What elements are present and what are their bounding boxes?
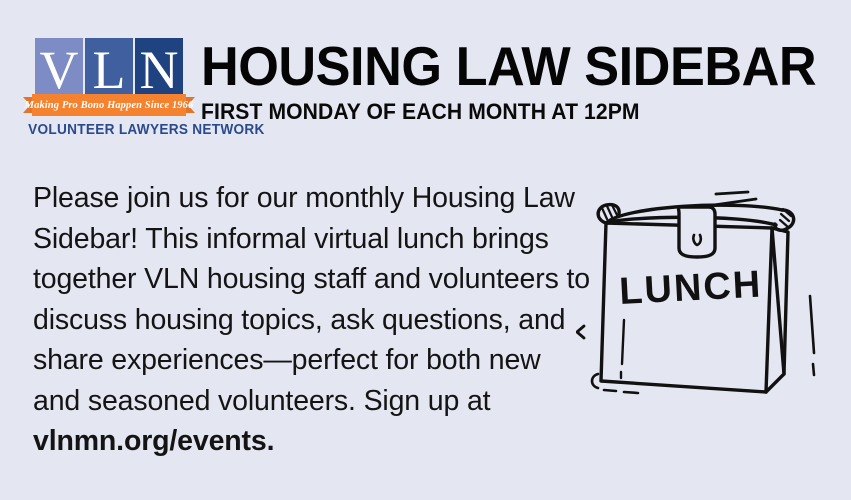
title-block: HOUSING LAW SIDEBAR FIRST MONDAY OF EACH…	[201, 40, 841, 123]
shine-mark-right-short	[813, 364, 814, 375]
vln-logo: V L N Making Pro Bono Happen Since 1966 …	[23, 38, 195, 146]
lunch-bag-drawing: LUNCH	[576, 178, 844, 408]
bag-bottom-left-fold	[592, 374, 598, 388]
page-subtitle: FIRST MONDAY OF EACH MONTH AT 12PM	[201, 101, 815, 123]
page-title: HOUSING LAW SIDEBAR	[201, 40, 809, 93]
bag-roll-right	[775, 210, 794, 230]
bag-crease-left	[622, 320, 624, 364]
lunch-bag-illustration: LUNCH	[576, 178, 844, 408]
logo-ribbon: Making Pro Bono Happen Since 1966	[23, 94, 195, 116]
ribbon-tagline: Making Pro Bono Happen Since 1966	[25, 100, 194, 111]
bag-label-text: LUNCH	[618, 264, 763, 313]
bag-bottom-dash-a	[604, 390, 616, 391]
shine-mark-right	[810, 296, 814, 353]
body-paragraph: Please join us for our monthly Housing L…	[33, 178, 595, 462]
accent-tick-left	[577, 326, 584, 338]
organization-name: VOLUNTEER LAWYERS NETWORK	[28, 122, 190, 138]
signup-url: vlnmn.org/events.	[33, 425, 274, 457]
body-text: Please join us for our monthly Housing L…	[33, 182, 590, 417]
ribbon-band: Making Pro Bono Happen Since 1966	[32, 94, 186, 116]
header: V L N Making Pro Bono Happen Since 1966 …	[0, 0, 851, 160]
bag-clip	[679, 207, 716, 257]
bag-bottom-dash-b	[624, 392, 638, 393]
shine-mark-upper	[716, 192, 748, 194]
flyer-canvas: V L N Making Pro Bono Happen Since 1966 …	[0, 0, 851, 500]
